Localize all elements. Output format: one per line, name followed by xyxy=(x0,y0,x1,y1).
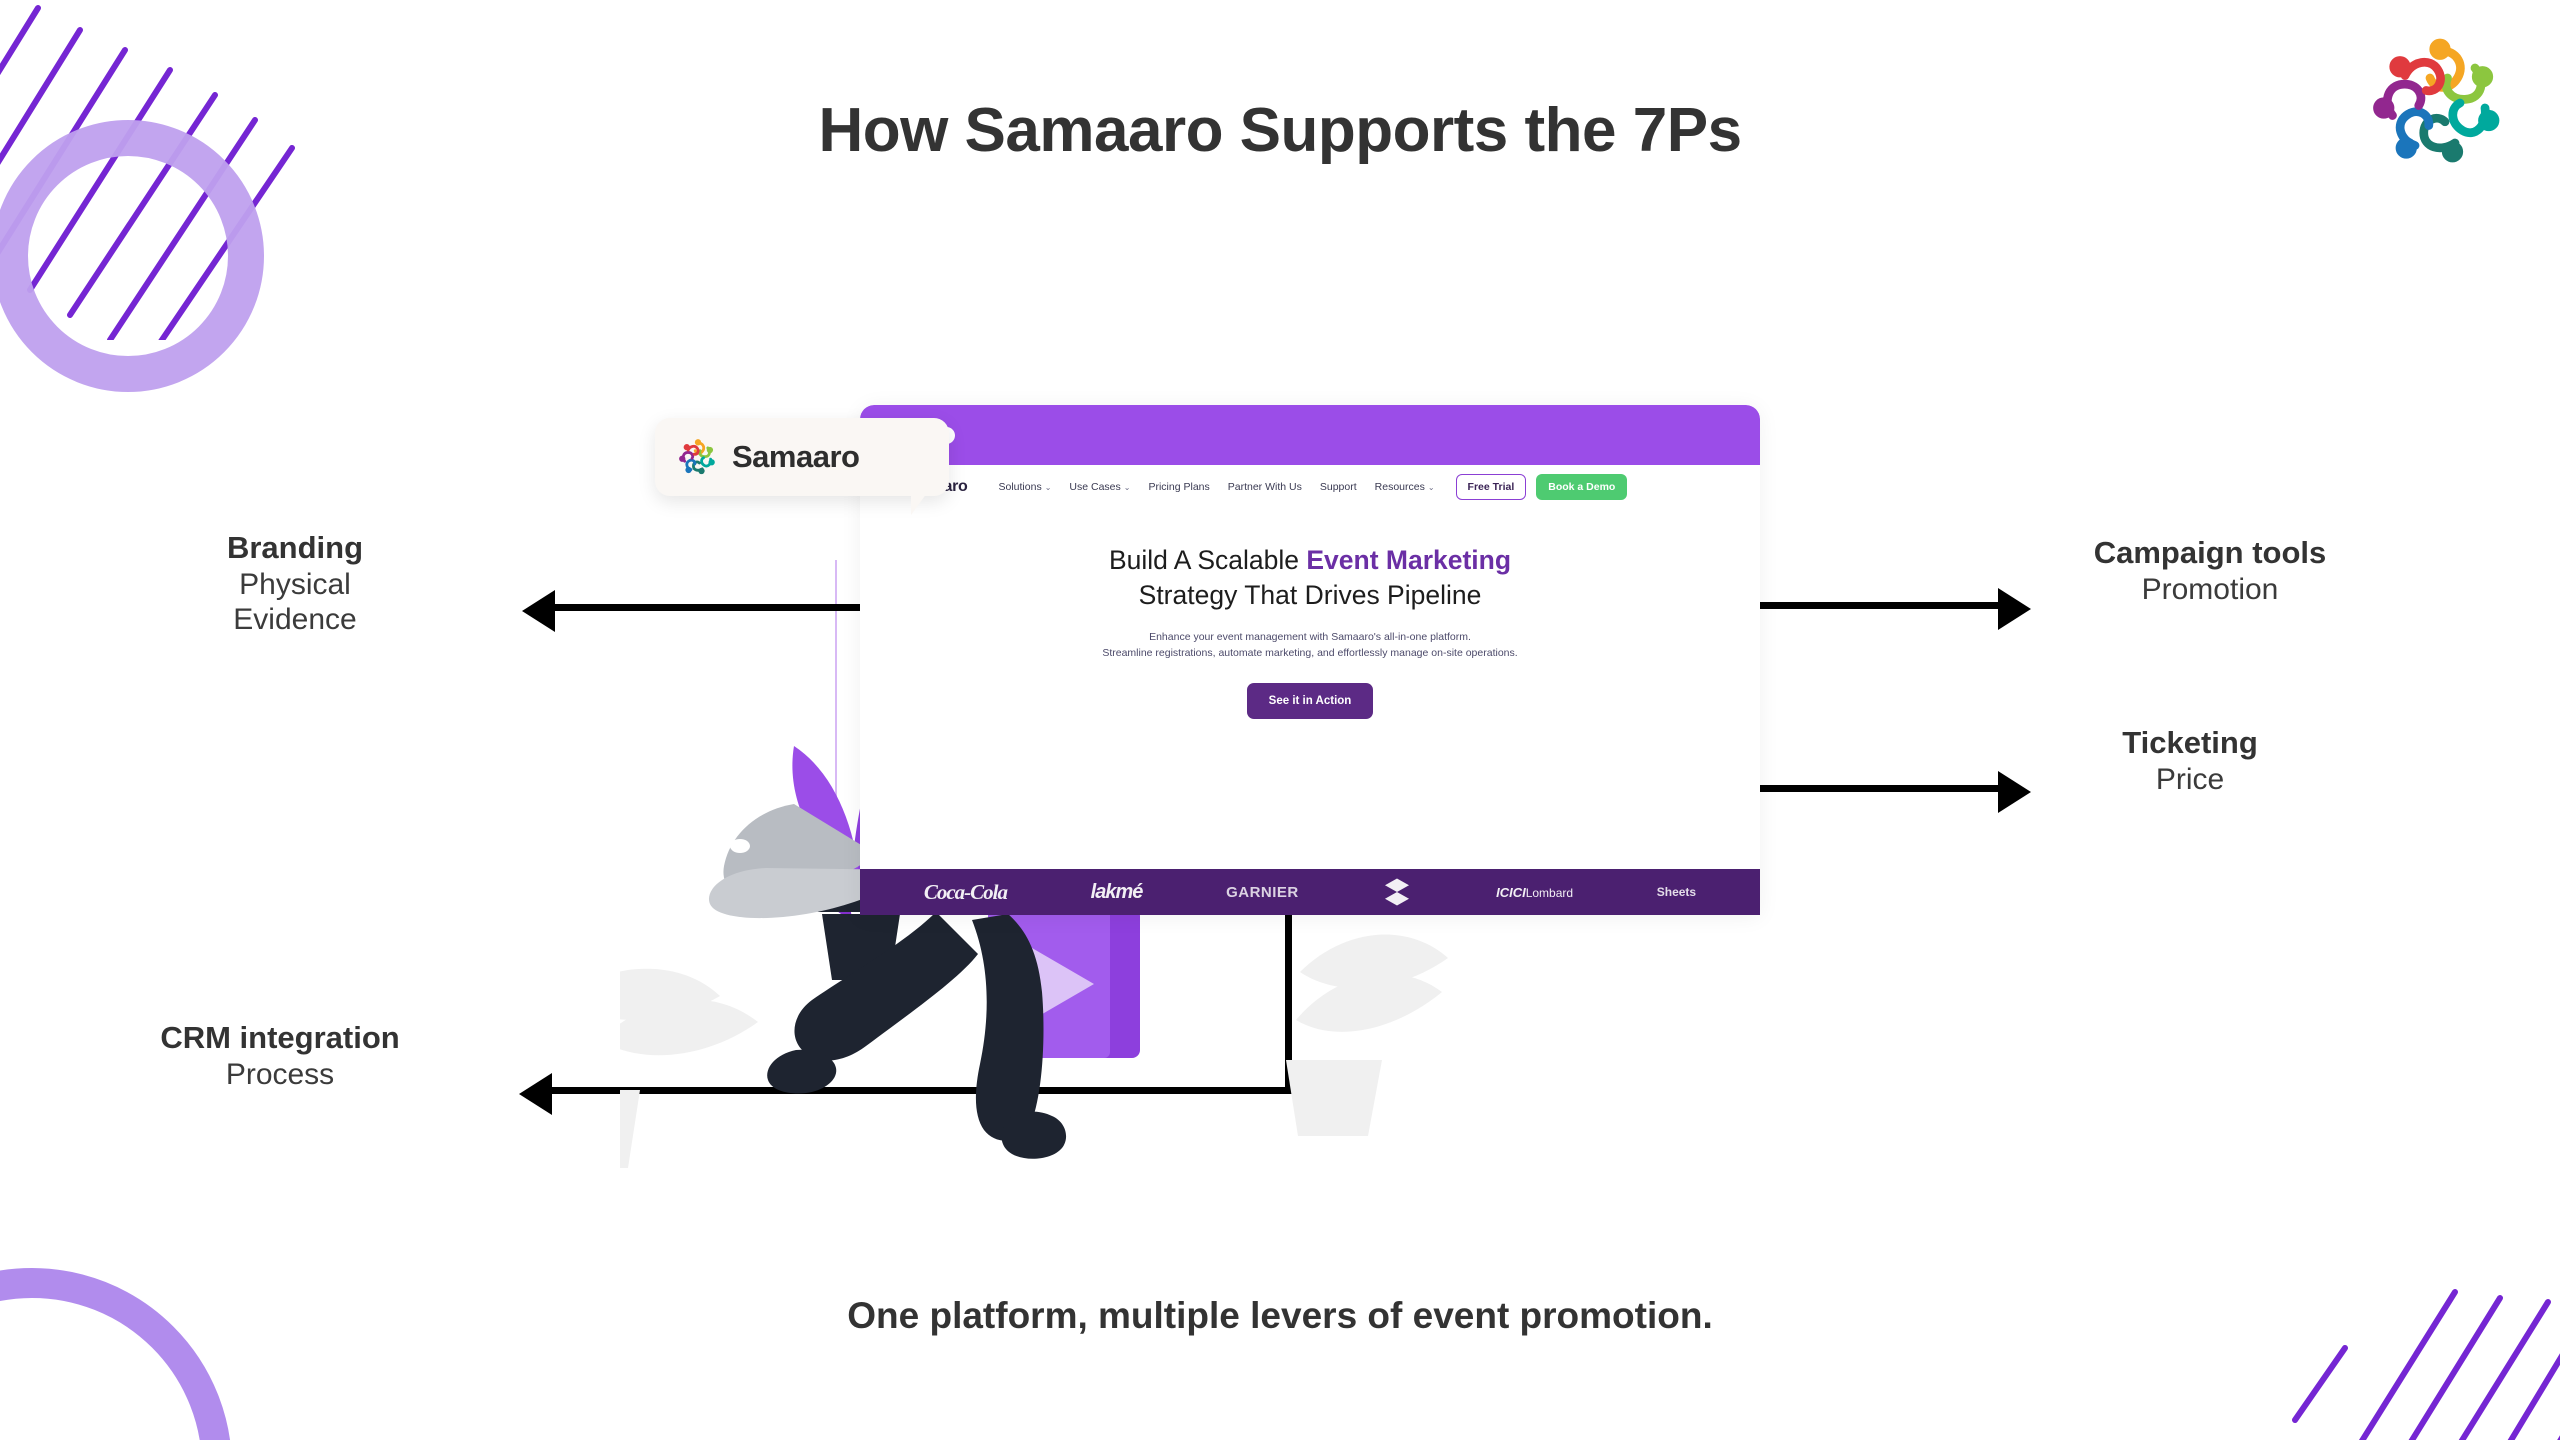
plant-background-right xyxy=(1286,935,1448,1136)
nav-item-use-cases[interactable]: Use Cases ⌄ xyxy=(1060,481,1139,493)
hero-heading: Build A Scalable Event Marketing Strateg… xyxy=(920,543,1700,613)
callout-branding-title: Branding xyxy=(130,530,460,567)
browser-titlebar xyxy=(860,405,1760,465)
nav-item-label: Support xyxy=(1320,481,1357,493)
arrow-crm-riser xyxy=(1285,910,1292,1090)
ring-bottom-left-icon xyxy=(0,1268,232,1440)
site-navigation-bar: Samaaro Solutions ⌄ Use Cases ⌄ Pricing … xyxy=(860,465,1760,509)
callout-campaign-sub: Promotion xyxy=(2010,572,2410,607)
chevron-down-icon: ⌄ xyxy=(1045,483,1052,492)
diagonal-stripes-top-left-icon xyxy=(0,0,360,340)
callout-ticketing-title: Ticketing xyxy=(2010,725,2370,762)
callout-campaign-tools: Campaign tools Promotion xyxy=(2010,535,2410,607)
vertical-guide-line xyxy=(835,560,837,910)
chevron-down-icon: ⌄ xyxy=(1124,483,1131,492)
slide-canvas: How Samaaro Supports the 7Ps xyxy=(0,0,2560,1440)
chevron-down-icon: ⌄ xyxy=(1428,483,1435,492)
hero-heading-part2: Strategy That Drives Pipeline xyxy=(1139,580,1482,610)
browser-mockup: Samaaro Solutions ⌄ Use Cases ⌄ Pricing … xyxy=(860,405,1760,915)
nav-item-pricing-plans[interactable]: Pricing Plans xyxy=(1139,481,1218,493)
hero-heading-accent: Event Marketing xyxy=(1306,545,1511,575)
free-trial-button[interactable]: Free Trial xyxy=(1456,474,1527,500)
client-logo-hsbc xyxy=(1382,877,1412,907)
client-logo-sheets: Sheets xyxy=(1657,885,1696,899)
callout-ticketing: Ticketing Price xyxy=(2010,725,2370,797)
play-button-box xyxy=(988,908,1140,1058)
client-logo-strip: Coca-Cola lakmé GARNIER ICICILombard She… xyxy=(860,869,1760,915)
client-logo-garnier: GARNIER xyxy=(1226,884,1299,901)
nav-item-resources[interactable]: Resources ⌄ xyxy=(1366,481,1444,493)
slide-caption: One platform, multiple levers of event p… xyxy=(0,1295,2560,1337)
hsbc-hexagon-icon xyxy=(1382,877,1412,907)
arrow-branding-shaft xyxy=(555,604,865,611)
arrow-ticketing-shaft xyxy=(1725,785,2000,792)
samaaro-badge-label: Samaaro xyxy=(732,439,859,475)
nav-item-label: Partner With Us xyxy=(1228,481,1302,493)
arrow-left-icon-branding xyxy=(522,590,555,632)
client-logo-lakme: lakmé xyxy=(1091,881,1143,904)
samaaro-people-circle-logo-icon-badge xyxy=(677,436,719,478)
callout-crm-integration: CRM integration Process xyxy=(100,1020,460,1092)
hero-heading-part1: Build A Scalable xyxy=(1109,545,1306,575)
callout-campaign-title: Campaign tools xyxy=(2010,535,2410,572)
client-logo-icici-label: ICICI xyxy=(1496,885,1526,900)
hero-section: Build A Scalable Event Marketing Strateg… xyxy=(860,509,1760,719)
book-a-demo-button[interactable]: Book a Demo xyxy=(1536,474,1627,500)
nav-item-partner-with-us[interactable]: Partner With Us xyxy=(1219,481,1311,493)
callout-branding-sub-line2: Evidence xyxy=(130,602,460,637)
callout-crm-title: CRM integration xyxy=(100,1020,460,1057)
nav-item-label: Pricing Plans xyxy=(1148,481,1209,493)
callout-ticketing-sub: Price xyxy=(2010,762,2370,797)
client-logo-lombard-label: Lombard xyxy=(1526,886,1573,900)
samaaro-tooltip-badge: Samaaro xyxy=(655,418,949,496)
nav-item-support[interactable]: Support xyxy=(1311,481,1366,493)
nav-item-solutions[interactable]: Solutions ⌄ xyxy=(990,481,1061,493)
callout-branding: Branding Physical Evidence xyxy=(130,530,460,637)
callout-branding-sub-line1: Physical xyxy=(130,567,460,602)
page-title: How Samaaro Supports the 7Ps xyxy=(0,95,2560,166)
hero-subtext: Enhance your event management with Samaa… xyxy=(920,629,1700,662)
callout-crm-sub: Process xyxy=(100,1057,460,1092)
hero-subtext-line1: Enhance your event management with Samaa… xyxy=(920,629,1700,645)
client-logo-coca-cola: Coca-Cola xyxy=(924,880,1007,905)
nav-item-label: Use Cases xyxy=(1069,481,1120,493)
client-logo-icici-lombard: ICICILombard xyxy=(1496,885,1573,900)
see-it-in-action-button[interactable]: See it in Action xyxy=(1247,683,1374,719)
nav-item-label: Solutions xyxy=(999,481,1042,493)
arrow-crm-shaft xyxy=(552,1087,1292,1094)
hero-subtext-line2: Streamline registrations, automate marke… xyxy=(920,645,1700,661)
arrow-left-icon-crm xyxy=(519,1073,552,1115)
plant-background-left xyxy=(620,969,758,1168)
nav-item-label: Resources xyxy=(1375,481,1425,493)
arrow-campaign-shaft xyxy=(1725,602,2000,609)
